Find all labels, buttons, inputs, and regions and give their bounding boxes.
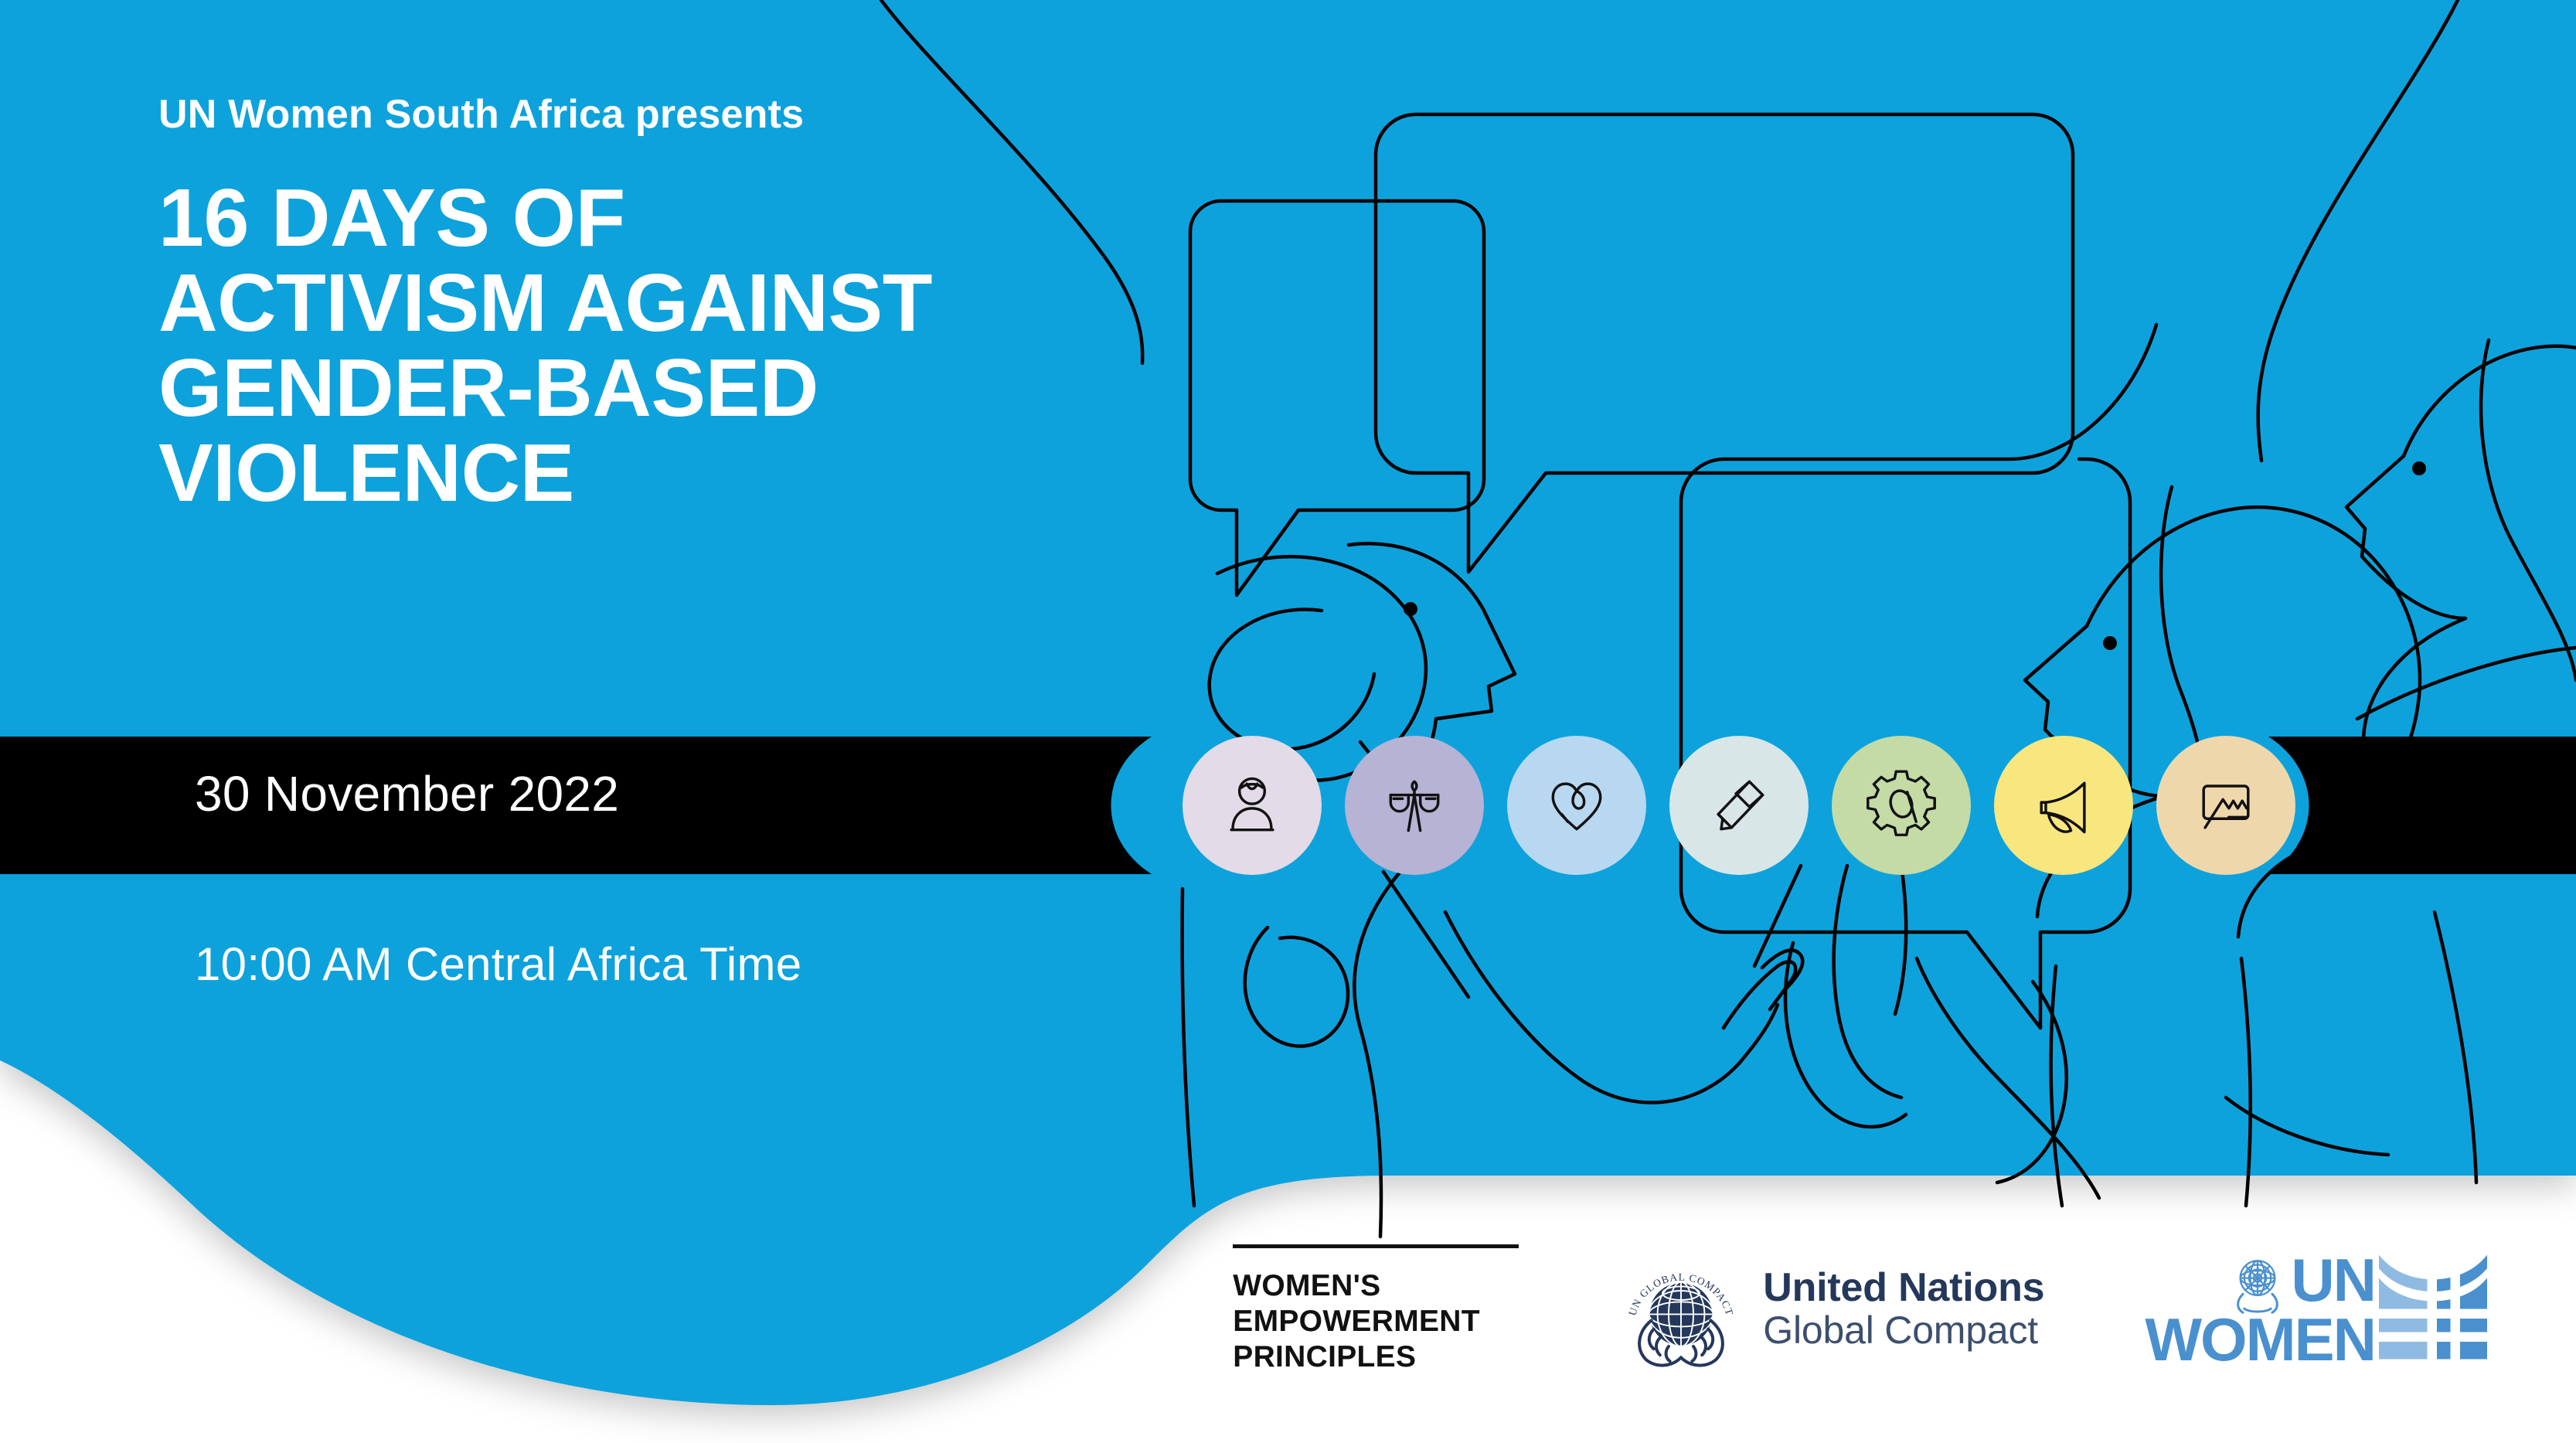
un-global-compact-logo: UN GLOBAL COMPACT <box>1619 1237 2044 1371</box>
person-icon-circle[interactable] <box>1183 736 1322 875</box>
icon-row <box>1183 736 2295 875</box>
speech-bubble-2 <box>1376 114 2073 572</box>
event-date: 30 November 2022 <box>195 765 619 822</box>
headline-block: UN Women South Africa presents 16 DAYS O… <box>158 93 1256 517</box>
megaphone-icon <box>2026 768 2101 842</box>
pencil-icon-circle[interactable] <box>1669 736 1809 875</box>
ungc-line-2: Global Compact <box>1763 1310 2044 1352</box>
megaphone-icon-circle[interactable] <box>1994 736 2133 875</box>
kicker-text: UN Women South Africa presents <box>158 93 1256 137</box>
un-women-logo: UN WOMEN <box>2145 1237 2491 1366</box>
un-global-compact-wordmark: United Nations Global Compact <box>1763 1267 2044 1351</box>
un-women-wordmark: UN WOMEN <box>2145 1247 2375 1366</box>
decorative-curve-2 <box>2258 0 2458 461</box>
womens-empowerment-principles-logo: WOMEN'S EMPOWERMENT PRINCIPLES <box>1233 1237 1519 1375</box>
wep-line-3: PRINCIPLES <box>1233 1339 1480 1375</box>
page-title: 16 DAYS OF ACTIVISM AGAINST GENDER-BASED… <box>158 177 1256 514</box>
wep-logo-text: WOMEN'S EMPOWERMENT PRINCIPLES <box>1233 1268 1480 1375</box>
ungc-line-1: United Nations <box>1763 1267 2044 1310</box>
headline-line-3: GENDER-BASED <box>158 347 1256 429</box>
speech-bubble-3 <box>1681 325 2156 1028</box>
headline-line-4: VIOLENCE <box>158 432 1256 514</box>
heart-icon-circle[interactable] <box>1507 736 1646 875</box>
event-time: 10:00 AM Central Africa Time <box>195 938 801 991</box>
pencil-icon <box>1702 768 1776 842</box>
un-women-row-bottom: WOMEN <box>2145 1314 2375 1366</box>
un-women-symbol-mark-icon <box>2375 1249 2491 1365</box>
scales-icon <box>1377 768 1451 842</box>
chart-icon-circle[interactable] <box>2156 736 2295 875</box>
wep-line-1: WOMEN'S <box>1233 1268 1480 1304</box>
wep-divider-rule <box>1233 1244 1519 1248</box>
figure-woman-left <box>1183 543 1803 1237</box>
headline-line-1: 16 DAYS OF <box>158 177 1256 259</box>
un-women-line-1: UN <box>2291 1254 2375 1306</box>
wep-line-2: EMPOWERMENT <box>1233 1304 1480 1339</box>
black-band-right <box>2268 737 2576 874</box>
gear-icon-circle[interactable] <box>1832 736 1971 875</box>
gear-icon <box>1864 768 1938 842</box>
un-emblem-icon <box>2224 1247 2291 1314</box>
heart-icon <box>1540 768 1614 842</box>
un-women-row-top: UN <box>2224 1247 2375 1314</box>
black-band-right-shape <box>2268 737 2576 874</box>
un-women-line-2: WOMEN <box>2145 1314 2375 1366</box>
chart-icon <box>2189 768 2263 842</box>
scales-icon-circle[interactable] <box>1345 736 1484 875</box>
un-global-compact-emblem-icon: UN GLOBAL COMPACT <box>1619 1247 1743 1371</box>
person-icon <box>1215 768 1289 842</box>
headline-line-2: ACTIVISM AGAINST <box>158 262 1256 344</box>
footer-logo-bar: WOMEN'S EMPOWERMENT PRINCIPLES UN GLOBAL… <box>0 1237 2576 1443</box>
poster-canvas: UN Women South Africa presents 16 DAYS O… <box>0 0 2576 1443</box>
